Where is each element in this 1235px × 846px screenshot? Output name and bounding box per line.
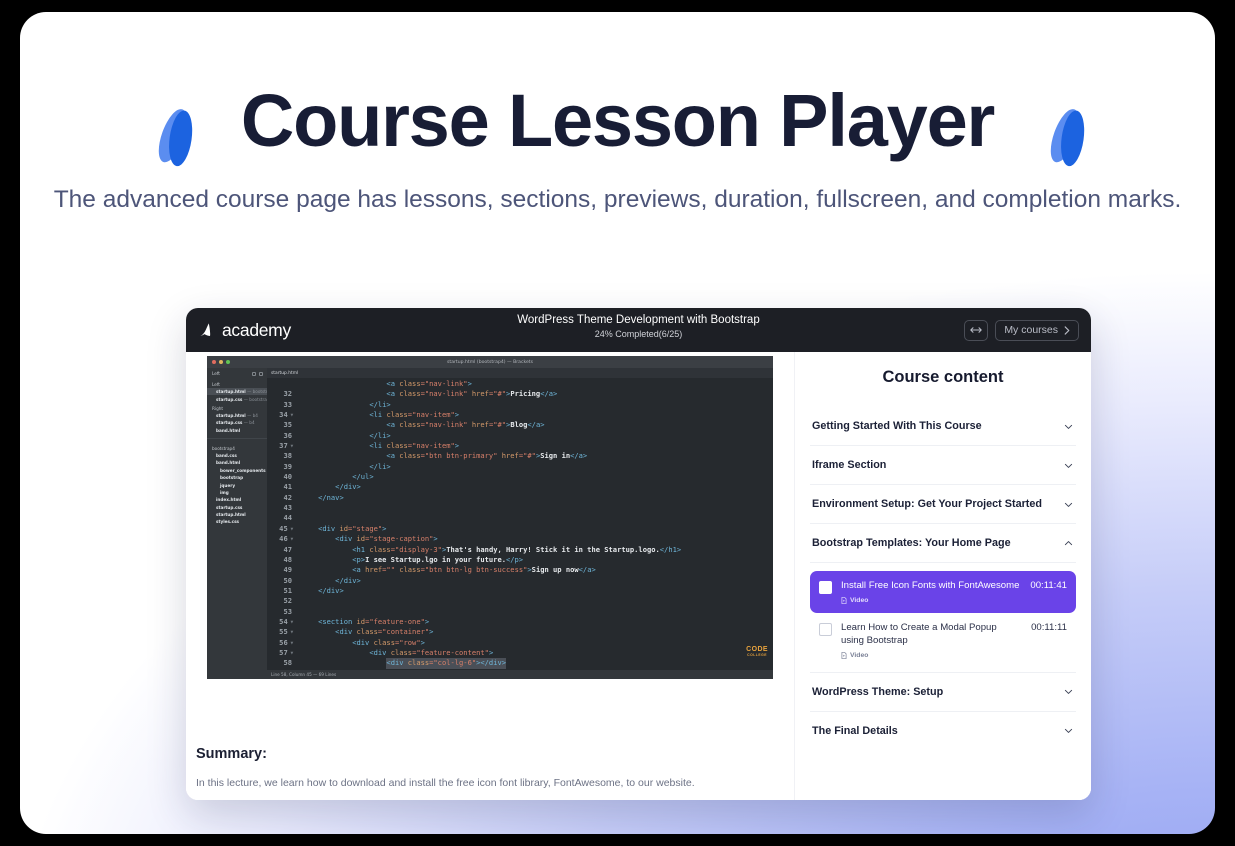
lesson-list: Install Free Icon Fonts with FontAwesome… [810,563,1076,673]
file-tree-item[interactable]: startup.html — bootstrap [207,388,267,395]
code-line: 37▾ <li class="nav-item"> [267,441,773,451]
code-line: 45▾ <div id="stage"> [267,524,773,534]
lesson-type-label: Video [850,597,868,604]
course-section-title: Iframe Section [812,459,886,471]
lesson-main-pane: startup.html (bootstrap4) — Brackets Lef… [186,352,794,800]
lesson-body: Learn How to Create a Modal Popup using … [841,622,1022,659]
course-section-title: Bootstrap Templates: Your Home Page [812,537,1011,549]
project-file-item[interactable]: band.html [207,459,267,466]
academy-a-mark-icon [198,321,217,340]
file-tree-pane-label: Left [212,371,220,376]
project-file-item[interactable]: img [207,489,267,496]
course-section-title: Environment Setup: Get Your Project Star… [812,498,1042,510]
course-title-block: WordPress Theme Development with Bootstr… [186,314,1091,339]
project-file-item[interactable]: startup.html [207,511,267,518]
page-card: Course Lesson Player The advanced course… [20,12,1215,834]
summary-text: In this lecture, we learn how to downloa… [196,776,756,792]
project-file-item[interactable]: bootstrap [207,474,267,481]
code-line: 35 <a class="nav-link" href="#">Blog</a> [267,420,773,430]
code-line: 33 </li> [267,400,773,410]
editor-code-pane: startup.html <a class="nav-link">32 <a c… [267,368,773,679]
file-group-label: Left [207,379,267,388]
watermark-line-1: CODE [746,646,768,653]
course-section-header[interactable]: Getting Started With This Course [810,407,1076,446]
brand-name: academy [222,320,291,341]
code-line: 53 [267,607,773,617]
page-subtitle: The advanced course page has lessons, se… [20,182,1215,218]
course-section-header[interactable]: WordPress Theme: Setup [810,673,1076,712]
project-file-item[interactable]: startup.css [207,504,267,511]
chevron-right-icon [1064,326,1070,335]
file-group-label: Right [207,403,267,412]
app-header: academy WordPress Theme Development with… [186,308,1091,352]
course-section-header[interactable]: Environment Setup: Get Your Project Star… [810,485,1076,524]
editor-titlebar: startup.html (bootstrap4) — Brackets [207,356,773,368]
code-line: 47 <h1 class="display-3">That's handy, H… [267,545,773,555]
project-file-list[interactable]: band.cssband.htmlbower_componentsbootstr… [207,452,267,526]
chevron-down-icon [1063,686,1074,697]
editor-tab-startup-html[interactable]: startup.html [271,371,298,376]
project-file-item[interactable]: jquery [207,481,267,488]
code-line: 42 </nav> [267,493,773,503]
project-file-item[interactable]: bower_components [207,467,267,474]
course-section-title: Getting Started With This Course [812,420,982,432]
lesson-duration: 00:11:41 [1030,580,1067,591]
chevron-down-icon [1063,725,1074,736]
code-line: 54▾ <section id="feature-one"> [267,617,773,627]
file-tree-icons[interactable] [252,372,263,376]
header-actions: My courses [964,320,1079,341]
code-line: 34▾ <li class="nav-item"> [267,410,773,420]
code-line: 56▾ <div class="row"> [267,638,773,648]
course-content-sidebar: Course content Getting Started With This… [794,352,1091,800]
code-line: 38 <a class="btn btn-primary" href="#">S… [267,451,773,461]
chevron-down-icon [1063,499,1074,510]
file-tree-item[interactable]: startup.css — b4 [207,419,267,426]
divider [207,438,267,439]
lesson-title: Learn How to Create a Modal Popup using … [841,622,1022,648]
file-tree-header: Left [207,371,267,379]
code-line: 39 </li> [267,462,773,472]
editor-window-title: startup.html (bootstrap4) — Brackets [207,360,773,365]
code-line: 51 </div> [267,586,773,596]
fullscreen-button[interactable] [964,320,988,341]
summary-heading: Summary: [196,746,267,762]
video-file-icon [841,652,847,659]
leaf-mark-icon-left [160,107,206,167]
lesson-checkbox[interactable] [819,581,832,594]
my-courses-button[interactable]: My courses [995,320,1079,341]
code-line: 44 [267,513,773,523]
chevron-down-icon [1063,460,1074,471]
project-file-item[interactable]: band.css [207,452,267,459]
lesson-item[interactable]: Learn How to Create a Modal Popup using … [810,613,1076,668]
code-line: 48 <p>I see Startup.lgo in your future.<… [267,555,773,565]
project-root-label: bootstrap4 [207,443,267,452]
lesson-type: Video [841,652,1022,659]
code-line: <a class="nav-link"> [267,379,773,389]
project-file-item[interactable]: styles.css [207,518,267,525]
code-line: 43 [267,503,773,513]
editor-tabbar[interactable]: startup.html [267,368,773,378]
video-file-icon [841,597,847,604]
course-section-header[interactable]: The Final Details [810,712,1076,750]
course-section-header[interactable]: Iframe Section [810,446,1076,485]
chevron-up-icon [1063,538,1074,549]
code-area[interactable]: <a class="nav-link">32 <a class="nav-lin… [267,378,773,670]
code-line: 46▾ <div id="stage-caption"> [267,534,773,544]
code-line: 49 <a href="" class="btn btn-lg btn-succ… [267,565,773,575]
app-body: startup.html (bootstrap4) — Brackets Lef… [186,352,1091,800]
editor-main: Left Leftstartup.html — bootstrapstartup… [207,368,773,679]
brand-logo[interactable]: academy [198,320,291,341]
course-section-title: The Final Details [812,725,898,737]
my-courses-label: My courses [1004,324,1058,336]
course-progress: 24% Completed(6/25) [186,329,1091,339]
code-line: 52 [267,596,773,606]
chevron-down-icon [1063,421,1074,432]
course-content-title: Course content [810,368,1076,387]
file-tree-item[interactable]: startup.html — b4 [207,412,267,419]
split-view-icon [259,372,263,376]
course-title: WordPress Theme Development with Bootstr… [186,314,1091,326]
lesson-title: Install Free Icon Fonts with FontAwesome [841,580,1021,593]
file-groups: Leftstartup.html — bootstrapstartup.css … [207,379,267,434]
lesson-item[interactable]: Install Free Icon Fonts with FontAwesome… [810,571,1076,613]
lesson-checkbox[interactable] [819,623,832,636]
file-tree-item[interactable]: startup.css — bootstrap4 [207,395,267,402]
course-sections: Getting Started With This CourseIframe S… [810,407,1076,750]
code-line: 40 </ul> [267,472,773,482]
code-line: 59 </div> [267,669,773,670]
leaf-mark-icon-right [1052,107,1098,167]
code-line: 32 <a class="nav-link" href="#">Pricing<… [267,389,773,399]
course-section-title: WordPress Theme: Setup [812,686,943,698]
editor-file-tree[interactable]: Left Leftstartup.html — bootstrapstartup… [207,368,267,679]
code-line: 41 </div> [267,482,773,492]
lesson-duration: 00:11:11 [1031,622,1067,633]
lesson-type-label: Video [850,652,868,659]
code-college-watermark: CODE COLLEGE [746,646,768,657]
lesson-type: Video [841,597,1021,604]
gear-icon [252,372,256,376]
project-file-item[interactable]: index.html [207,496,267,503]
lesson-video-player[interactable]: startup.html (bootstrap4) — Brackets Lef… [207,356,773,679]
expand-arrows-icon [970,326,982,334]
code-line: 55▾ <div class="container"> [267,627,773,637]
code-line: 36 </li> [267,431,773,441]
editor-status-bar: Line 58, Column 45 — 69 Lines [267,670,773,679]
code-line: 50 </div> [267,576,773,586]
code-line: 58 <div class="col-lg-6"></div> [267,658,773,668]
course-section-header[interactable]: Bootstrap Templates: Your Home Page [810,524,1076,563]
file-tree-item[interactable]: band.html [207,427,267,434]
course-player-window: academy WordPress Theme Development with… [186,308,1091,800]
code-line: 57▾ <div class="feature-content"> [267,648,773,658]
watermark-line-2: COLLEGE [746,654,768,657]
lesson-body: Install Free Icon Fonts with FontAwesome… [841,580,1021,604]
